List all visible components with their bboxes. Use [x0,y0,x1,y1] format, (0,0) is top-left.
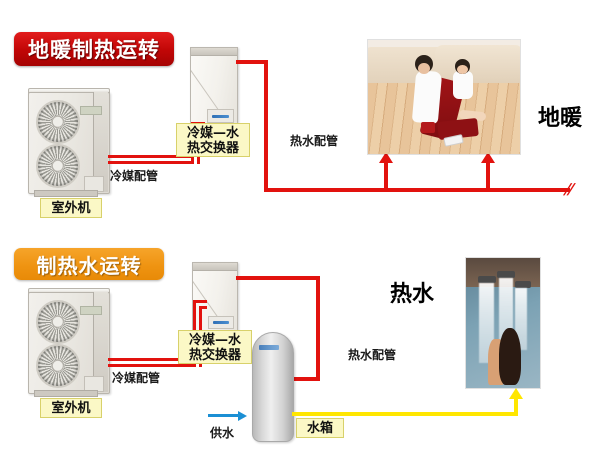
refrigerant-pipe-1-label: 冷媒配管 [110,167,158,184]
outdoor-unit-2-brand-plate [80,306,102,315]
hot-water-pipe-2-top [236,276,320,280]
diagram-canvas: 地暖制热运转 室外机 冷媒配管 冷媒—水 热交换器 [0,0,600,449]
hot-water-pipe-2-label: 热水配管 [348,346,396,363]
photo-child-face [457,65,468,74]
photo-child-body [453,71,473,100]
hydro-unit-2-label-line2: 热交换器 [183,348,247,363]
photo-person-hair [499,328,521,385]
supply-water-label: 供水 [210,424,234,441]
hot-water-out-pipe-riser [514,398,518,416]
outdoor-unit-2-fan-bottom-icon [36,344,80,388]
hot-water-pipe-1-branch-b [486,162,490,190]
water-tank-label: 水箱 [296,418,344,438]
hydro-unit-2-brand-badge [208,316,234,329]
water-tank [252,332,292,440]
hydro-unit-1-label-line2: 热交换器 [181,141,245,156]
refrigerant-pipe-2-label: 冷媒配管 [112,369,160,386]
hydro-unit-top-trim [191,48,237,56]
water-tank-brand-badge [259,345,279,350]
hydro-unit-diagonal-line [190,66,222,114]
hot-water-pipe-1-run [264,188,570,192]
hydro-unit-2-top-trim [193,263,237,271]
hydro-unit-1-label-line1: 冷媒—水 [181,126,245,141]
supply-water-line [208,414,238,417]
outdoor-unit-brand-plate [80,106,102,115]
outdoor-unit-2 [28,292,108,392]
outdoor-unit-2-fan-top-icon [36,300,80,344]
section-banner-floor-heating: 地暖制热运转 [14,32,174,66]
hydro-unit-2-label-line1: 冷媒—水 [183,333,247,348]
hydro-unit-brand-badge [207,109,234,123]
hydro-unit-2-label: 冷媒—水 热交换器 [178,330,252,364]
floor-heating-photo [368,40,520,154]
hydro-unit-1-label: 冷媒—水 热交换器 [176,123,250,157]
outdoor-unit-1 [28,92,108,192]
pipe-break-icon: // [562,180,575,198]
hot-water-out-pipe-run [292,412,518,416]
hydro-unit-1 [190,47,236,129]
floor-heating-target-label: 地暖 [538,100,582,132]
outdoor-unit-fan-top-icon [36,100,80,144]
hot-water-target-label: 热水 [390,276,434,308]
photo-red-box [421,122,435,133]
outdoor-unit-base [34,190,98,197]
photo-woman-body [411,70,441,124]
outdoor-unit-fan-bottom-icon [36,144,80,188]
outdoor-unit-1-label: 室外机 [40,198,102,218]
section-banner-hot-water: 制热水运转 [14,248,164,280]
arrow-right-icon-supply-water [238,411,247,421]
outdoor-unit-2-label: 室外机 [40,398,102,418]
outdoor-unit-2-base [34,390,98,397]
arrow-up-icon-shower [509,388,523,399]
hot-water-pipe-1-branch-a [384,162,388,190]
hot-water-pipe-1-riser [264,60,268,192]
hot-water-pipe-1-label: 热水配管 [290,132,338,149]
hot-water-pipe-2-riser [316,276,320,381]
hot-water-photo [466,258,540,388]
